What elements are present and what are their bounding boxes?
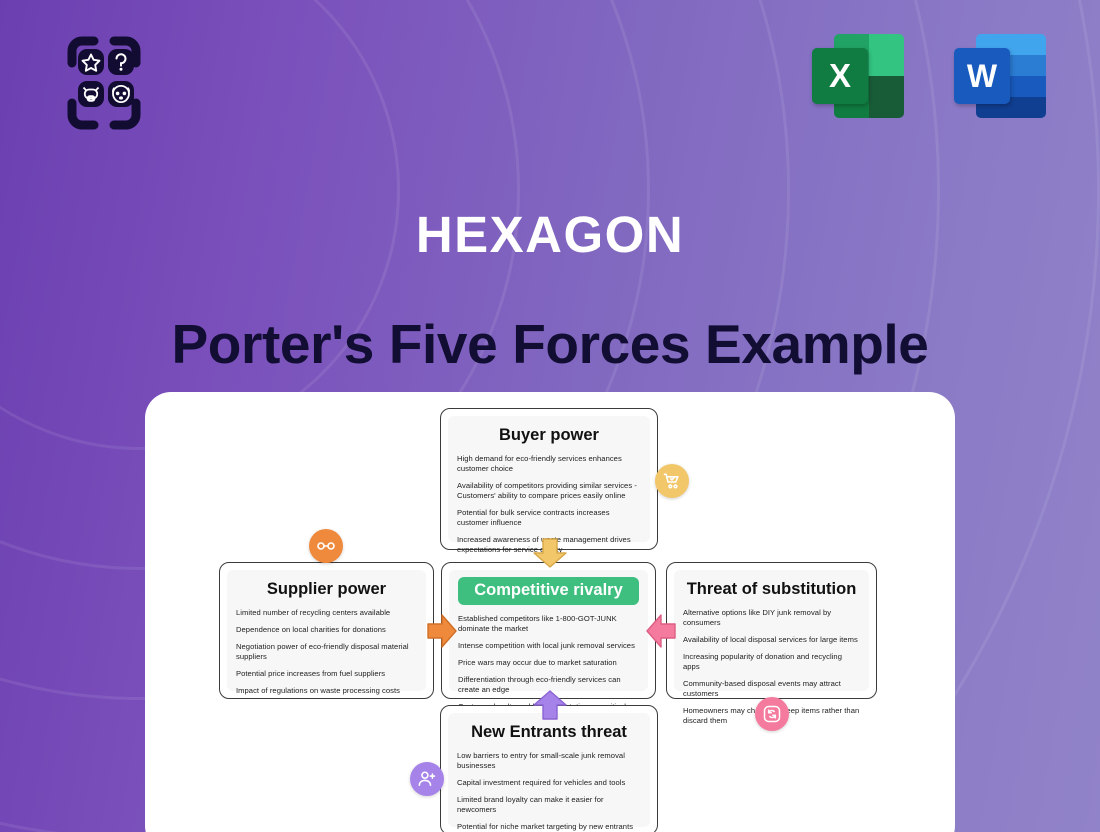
list-item: Dependence on local charities for donati… bbox=[236, 625, 417, 635]
list-item: Potential for niche market targeting by … bbox=[457, 822, 641, 832]
box-title: New Entrants threat bbox=[457, 723, 641, 742]
word-letter: W bbox=[954, 48, 1010, 104]
force-box-supplier-power[interactable]: Supplier power Limited number of recycli… bbox=[219, 562, 434, 699]
list-item: Established competitors like 1-800-GOT-J… bbox=[458, 614, 639, 634]
add-user-icon[interactable] bbox=[410, 762, 444, 796]
force-box-competitive-rivalry[interactable]: Competitive rivalry Established competit… bbox=[441, 562, 656, 699]
list-item: Availability of local disposal services … bbox=[683, 635, 860, 645]
list-item: Alternative options like DIY junk remova… bbox=[683, 608, 860, 628]
box-inner: Threat of substitution Alternative optio… bbox=[674, 570, 869, 691]
list-item: Availability of competitors providing si… bbox=[457, 481, 641, 501]
force-box-new-entrants-threat[interactable]: New Entrants threat Low barriers to entr… bbox=[440, 705, 658, 832]
box-points: Limited number of recycling centers avai… bbox=[236, 608, 417, 696]
box-inner: Competitive rivalry Established competit… bbox=[449, 570, 648, 691]
brand-name: HEXAGON bbox=[0, 205, 1100, 264]
arrow-left-substitution-to-rivalry bbox=[646, 612, 676, 650]
list-item: Low barriers to entry for small-scale ju… bbox=[457, 751, 641, 771]
list-item: High demand for eco-friendly services en… bbox=[457, 454, 641, 474]
sync-refresh-icon[interactable] bbox=[755, 697, 789, 731]
box-inner: Buyer power High demand for eco-friendly… bbox=[448, 416, 650, 542]
force-box-threat-of-substitution[interactable]: Threat of substitution Alternative optio… bbox=[666, 562, 877, 699]
arrow-right-supplier-to-rivalry bbox=[427, 612, 457, 650]
excel-icon[interactable]: X bbox=[808, 28, 904, 124]
list-item: Limited brand loyalty can make it easier… bbox=[457, 795, 641, 815]
excel-letter: X bbox=[812, 48, 868, 104]
force-box-buyer-power[interactable]: Buyer power High demand for eco-friendly… bbox=[440, 408, 658, 550]
list-item: Negotiation power of eco-friendly dispos… bbox=[236, 642, 417, 662]
box-inner: New Entrants threat Low barriers to entr… bbox=[448, 713, 650, 827]
box-title: Threat of substitution bbox=[683, 580, 860, 599]
brand-logo[interactable] bbox=[46, 25, 162, 141]
word-icon[interactable]: W bbox=[950, 28, 1046, 124]
box-title: Buyer power bbox=[457, 426, 641, 445]
scan-frame-star-question-cow-dog-icon bbox=[46, 25, 162, 141]
wrench-icon[interactable] bbox=[309, 529, 343, 563]
box-points: Low barriers to entry for small-scale ju… bbox=[457, 751, 641, 832]
list-item: Price wars may occur due to market satur… bbox=[458, 658, 639, 668]
page-title: Porter's Five Forces Example bbox=[0, 312, 1100, 376]
list-item: Intense competition with local junk remo… bbox=[458, 641, 639, 651]
list-item: Increasing popularity of donation and re… bbox=[683, 652, 860, 672]
box-title: Competitive rivalry bbox=[458, 577, 639, 605]
arrow-down-buyer-to-rivalry bbox=[531, 538, 569, 568]
box-inner: Supplier power Limited number of recycli… bbox=[227, 570, 426, 691]
shopping-cart-icon[interactable] bbox=[655, 464, 689, 498]
arrow-up-entrants-to-rivalry bbox=[531, 690, 569, 720]
poster-canvas: X W HEXAGON Porter's Five Forces Example… bbox=[0, 0, 1100, 832]
list-item: Limited number of recycling centers avai… bbox=[236, 608, 417, 618]
list-item: Capital investment required for vehicles… bbox=[457, 778, 641, 788]
list-item: Potential price increases from fuel supp… bbox=[236, 669, 417, 679]
list-item: Impact of regulations on waste processin… bbox=[236, 686, 417, 696]
office-icons-group: X W bbox=[808, 28, 1046, 124]
list-item: Potential for bulk service contracts inc… bbox=[457, 508, 641, 528]
box-title: Supplier power bbox=[236, 580, 417, 599]
